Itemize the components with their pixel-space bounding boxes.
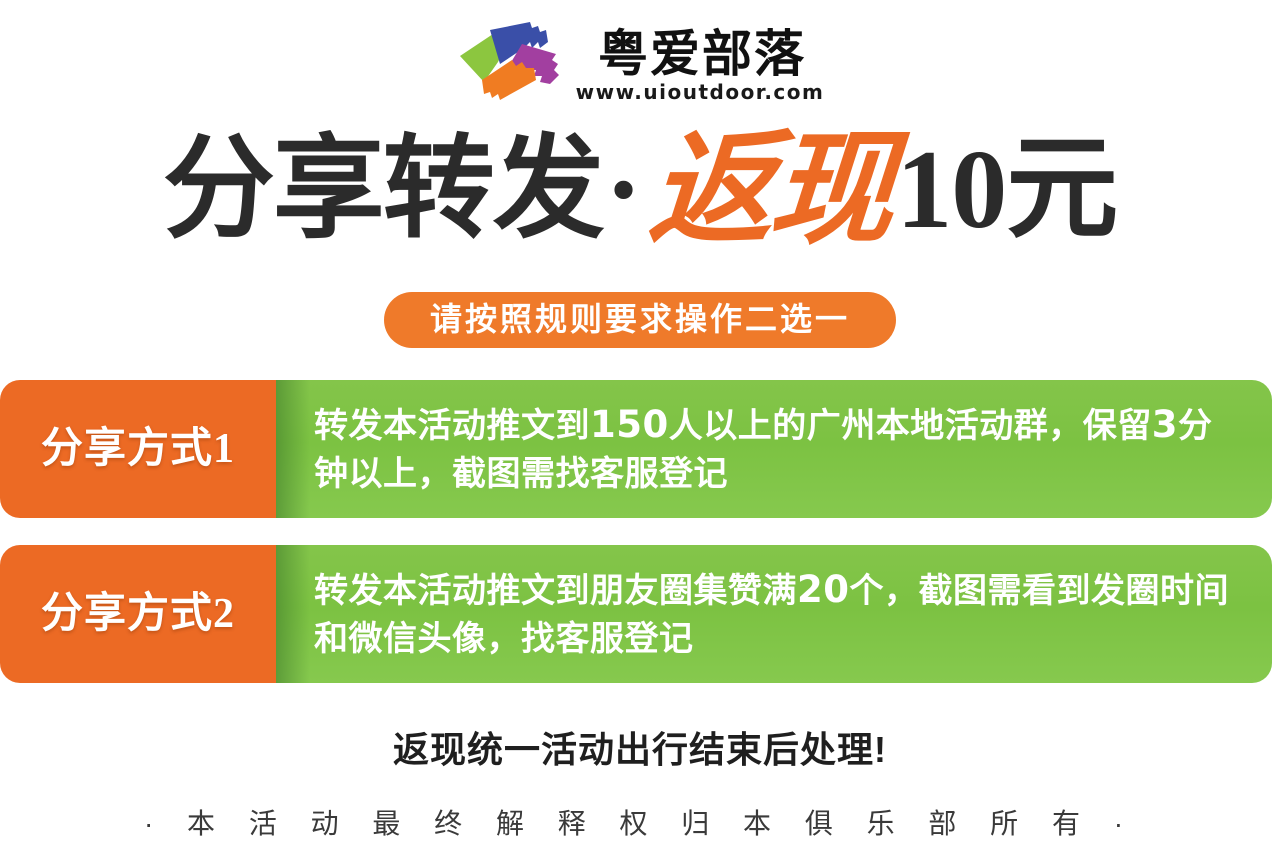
headline-separator: · <box>603 130 644 250</box>
rule-body-1: 转发本活动推文到150人以上的广州本地活动群，保留3分钟以上，截图需找客服登记 <box>276 380 1272 518</box>
headline-orange-text: 返现 <box>640 130 900 250</box>
rule-text-prefix: 转发本活动推文到朋友圈集赞满 <box>314 572 797 610</box>
footer-main-note: 返现统一活动出行结束后处理! <box>0 728 1280 772</box>
rule-tab-1: 分享方式1 <box>0 380 276 518</box>
instruction-banner: 请按照规则要求操作二选一 <box>384 292 896 348</box>
rule-text-1: 转发本活动推文到150人以上的广州本地活动群，保留3分钟以上，截图需找客服登记 <box>314 401 1242 498</box>
headline: 分享转发 · 返现 10元 <box>0 124 1280 256</box>
rule-tab-label: 分享方式1 <box>41 426 235 472</box>
brand-header: 粤爱部落 www.uioutdoor.com <box>0 14 1280 114</box>
brand-url: www.uioutdoor.com <box>576 81 825 103</box>
headline-amount: 10元 <box>896 130 1117 250</box>
brand-name: 粤爱部落 <box>594 28 806 80</box>
rule-tab-2: 分享方式2 <box>0 545 276 683</box>
rule-tab-label: 分享方式2 <box>41 591 235 637</box>
rule-text-middle: 人以上的广州本地活动群，保留 <box>669 407 1152 445</box>
instruction-banner-wrap: 请按照规则要求操作二选一 <box>0 292 1280 348</box>
rule-body-2: 转发本活动推文到朋友圈集赞满20个，截图需看到发圈时间和微信头像，找客服登记 <box>276 545 1272 683</box>
promo-poster: 粤爱部落 www.uioutdoor.com 分享转发 · 返现 10元 请按照… <box>0 0 1280 853</box>
rule-row: 分享方式2 转发本活动推文到朋友圈集赞满20个，截图需看到发圈时间和微信头像，找… <box>0 545 1272 683</box>
headline-black-text: 分享转发 <box>163 130 603 250</box>
brand-name-text: 粤爱部落 <box>598 25 806 83</box>
rule-text-prefix: 转发本活动推文到 <box>314 407 590 445</box>
rule-text-2: 转发本活动推文到朋友圈集赞满20个，截图需看到发圈时间和微信头像，找客服登记 <box>314 566 1242 663</box>
rule-highlight-2: 3 <box>1152 403 1178 446</box>
brand-text-block: 粤爱部落 www.uioutdoor.com <box>576 28 825 103</box>
rule-highlight-1: 150 <box>590 403 669 446</box>
footer-disclaimer: · 本 活 动 最 终 解 释 权 归 本 俱 乐 部 所 有 · <box>0 806 1280 842</box>
rule-row: 分享方式1 转发本活动推文到150人以上的广州本地活动群，保留3分钟以上，截图需… <box>0 380 1272 518</box>
pinwheel-logo-icon <box>456 20 560 108</box>
rule-highlight-1: 20 <box>797 568 850 611</box>
